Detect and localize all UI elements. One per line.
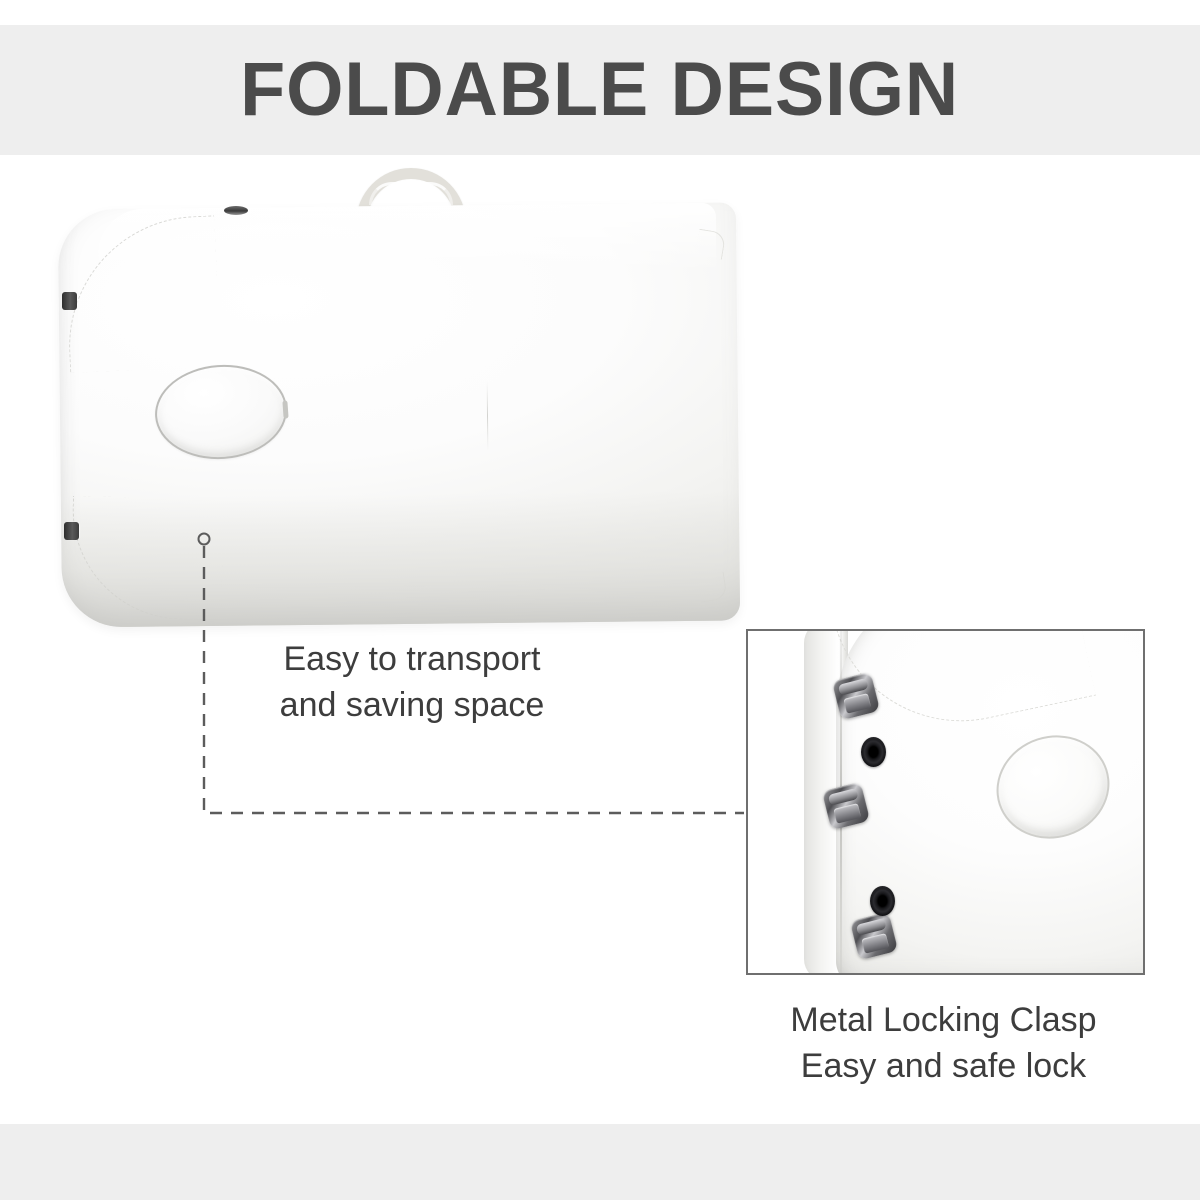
hero-caption: Easy to transport and saving space	[232, 636, 592, 728]
crease-top-right	[695, 229, 726, 260]
hero-caption-line-2: and saving space	[232, 682, 592, 728]
hero-product-photo	[40, 160, 740, 640]
inset-caption-line-1: Metal Locking Clasp	[746, 997, 1141, 1043]
left-hinge-upper-icon	[62, 292, 77, 310]
fold-line	[487, 381, 489, 451]
crease-bottom-right	[697, 572, 728, 603]
product-feature-page: FOLDABLE DESIGN Easy to transport and sa…	[0, 0, 1200, 1200]
footer-banner	[0, 1124, 1200, 1200]
left-hinge-lower-icon	[64, 522, 79, 540]
top-grommet-icon	[224, 206, 248, 215]
inset-photo-frame	[746, 629, 1145, 975]
stitch-seam-bottom-left	[70, 496, 224, 621]
header-banner: FOLDABLE DESIGN	[0, 25, 1200, 155]
inset-caption: Metal Locking Clasp Easy and safe lock	[746, 997, 1141, 1089]
inset-photo	[748, 631, 1143, 973]
hero-caption-line-1: Easy to transport	[232, 636, 592, 682]
rubber-grommet-icon	[870, 886, 895, 916]
inset-caption-line-2: Easy and safe lock	[746, 1043, 1141, 1089]
rubber-grommet-icon	[861, 737, 886, 767]
page-title: FOLDABLE DESIGN	[240, 52, 959, 128]
stitch-seam-top-left	[63, 215, 221, 373]
